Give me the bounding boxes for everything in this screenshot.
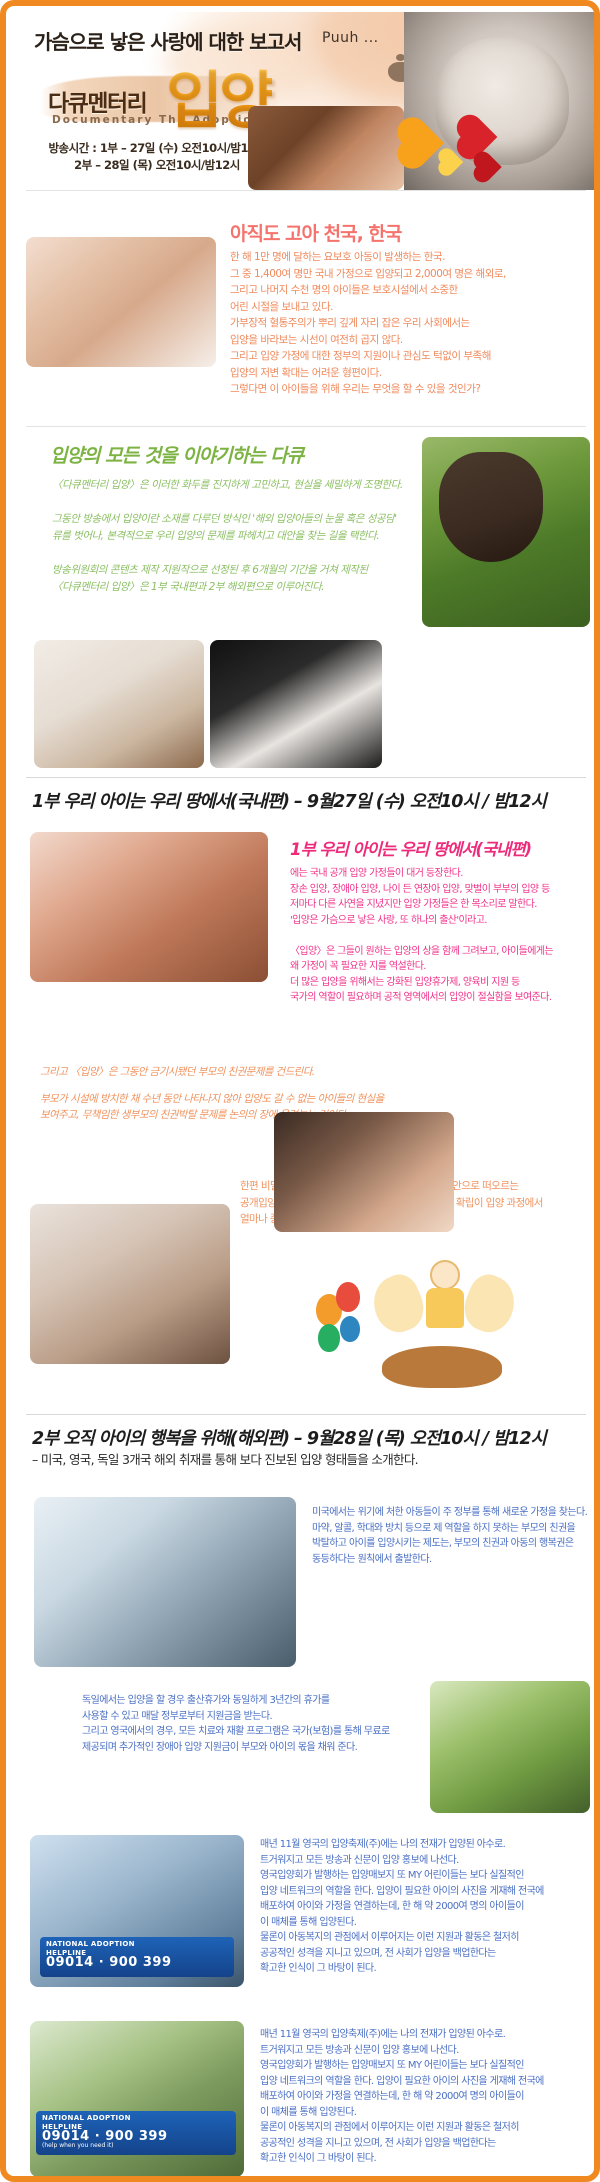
section-orphan-body: 한 해 1만 명에 달하는 요보호 아동이 발생하는 한국. 그 중 1,400…: [230, 249, 590, 398]
photo-mother-and-child: [248, 106, 404, 190]
heart-darkred-icon: [476, 154, 501, 179]
page-frame: 가슴으로 낳은 사랑에 대한 보고서 다큐멘터리 Documentary The…: [0, 0, 600, 2182]
photo-usa-family-room: [34, 1497, 296, 1667]
section-part2-usa: 미국에서는 위기에 처한 아동들이 주 정부를 통해 새로운 가정을 찾는다. …: [12, 1481, 600, 1681]
balloon-green-icon: [318, 1324, 340, 1352]
helpline-card-line1: NATIONAL ADOPTION: [46, 1940, 228, 1949]
part1-extra-line1: 그리고 〈입양〉은 그동안 금기시됐던 부모의 친권문제를 건드린다.: [40, 1064, 580, 1081]
photo-portrait-bw: [210, 640, 382, 768]
part2-uk-body: 매년 11월 영국의 입양축제(주)에는 나의 전재가 입양된 아수로. 트거워…: [260, 1837, 594, 1977]
illustration-children-balloons: [312, 1242, 542, 1392]
part1-body: 에는 국내 공개 입양 가정들이 대거 등장한다. 장손 입양, 장애아 입양,…: [290, 866, 594, 1006]
balloon-red-icon: [336, 1282, 360, 1312]
photo-father-and-children: [30, 832, 268, 982]
part1-header-bar: 1부 우리 아이는 우리 땅에서(국내편) – 9월27일 (수) 오전10시 …: [12, 778, 600, 824]
balloon-blue-icon: [340, 1316, 360, 1342]
photo-helpline-card-closeup: NATIONAL ADOPTION HELPLINE 09014 · 900 3…: [30, 2021, 244, 2177]
part1-title: 1부 우리 아이는 우리 땅에서(국내편): [290, 836, 531, 860]
section-docu-body: 〈다큐멘터리 입양〉은 이러한 화두를 진지하게 고민하고, 현실을 세밀하게 …: [52, 477, 412, 596]
part2-usa-body: 미국에서는 위기에 처한 아동들이 주 정부를 통해 새로운 가정을 찾는다. …: [312, 1505, 594, 1567]
helpline-card-2: NATIONAL ADOPTION HELPLINE 09014 · 900 3…: [36, 2111, 236, 2155]
photo-child-jester-hat: [430, 1681, 590, 1813]
page-inner: 가슴으로 낳은 사랑에 대한 보고서 다큐멘터리 Documentary The…: [12, 12, 600, 2182]
illustration-ground-decor: [382, 1346, 502, 1388]
child-head-icon: [430, 1260, 460, 1290]
helpline-card2-line1: NATIONAL ADOPTION: [42, 2114, 230, 2123]
section-docu-title: 입양의 모든 것을 이야기하는 다큐: [50, 441, 303, 468]
section-portraits: [12, 632, 600, 777]
section-documentary: 입양의 모든 것을 이야기하는 다큐 〈다큐멘터리 입양〉은 이러한 화두를 진…: [12, 427, 600, 632]
section-part1-parental-rights: 그리고 〈입양〉은 그동안 금기시됐던 부모의 친권문제를 건드린다. 부모가 …: [12, 1054, 600, 1164]
wing-right-icon: [457, 1269, 522, 1339]
photo-helpline-office: NATIONAL ADOPTION HELPLINE 09014 · 900 3…: [30, 1835, 244, 1987]
photo-family-group: [274, 1112, 454, 1232]
part2-germany-body: 독일에서는 입양을 할 경우 출산휴가와 동일하게 3년간의 휴가를 사용할 수…: [82, 1693, 412, 1755]
page-header: 가슴으로 낳은 사랑에 대한 보고서 다큐멘터리 Documentary The…: [12, 12, 600, 190]
part2-header-text: 2부 오직 아이의 행복을 위해(해외편) – 9월28일 (목) 오전10시 …: [32, 1425, 546, 1450]
photo-woman-with-horse: [422, 437, 590, 627]
section-part2-helpline-card: NATIONAL ADOPTION HELPLINE 09014 · 900 3…: [12, 2011, 600, 2182]
section-orphan-title: 아직도 고아 천국, 한국: [230, 219, 401, 246]
photo-elderly-hands: [26, 237, 216, 367]
section-part1-body: 1부 우리 아이는 우리 땅에서(국내편) 에는 국내 공개 입양 가정들이 대…: [12, 824, 600, 1054]
child-body-icon: [426, 1288, 464, 1328]
heart-red-icon: [461, 119, 498, 156]
wing-left-icon: [365, 1269, 430, 1339]
helpline-card2-number: 09014 · 900 399: [42, 2132, 230, 2141]
photo-two-boys-flowers: [30, 1204, 230, 1364]
helpline-card: NATIONAL ADOPTION HELPLINE 09014 · 900 3…: [40, 1937, 234, 1977]
helpline-card-number: 09014 · 900 399: [46, 1958, 228, 1967]
part1-header-text: 1부 우리 아이는 우리 땅에서(국내편) – 9월27일 (수) 오전10시 …: [32, 788, 546, 813]
part2-helpline-body: 매년 11월 영국의 입양축제(주)에는 나의 전재가 입양된 아수로. 트거워…: [260, 2027, 594, 2167]
hearts-decor: [404, 122, 534, 190]
section-part2-germany: 독일에서는 입양을 할 경우 출산휴가와 동일하게 3년간의 휴가를 사용할 수…: [12, 1681, 600, 1821]
part2-header-bar: 2부 오직 아이의 행복을 위해(해외편) – 9월28일 (목) 오전10시 …: [12, 1415, 600, 1481]
section-part2-uk: NATIONAL ADOPTION HELPLINE 09014 · 900 3…: [12, 1821, 600, 2011]
photo-portrait-color: [34, 640, 204, 768]
part2-subheader-text: – 미국, 영국, 독일 3개국 해외 취재를 통해 보다 진보된 입양 형태들…: [32, 1449, 418, 1468]
section-orphan-korea: 아직도 고아 천국, 한국 한 해 1만 명에 달하는 요보호 아동이 발생하는…: [12, 191, 600, 426]
puuh-caption: Puuh ...: [322, 30, 379, 46]
logo-korean-small: 다큐멘터리: [48, 84, 146, 118]
documentary-adoption-page: 가슴으로 낳은 사랑에 대한 보고서 다큐멘터리 Documentary The…: [0, 0, 600, 2182]
part1-extra-line2: 부모가 시설에 방치한 채 수년 동안 나타나지 않아 입양도 갈 수 없는 아…: [40, 1091, 580, 1108]
